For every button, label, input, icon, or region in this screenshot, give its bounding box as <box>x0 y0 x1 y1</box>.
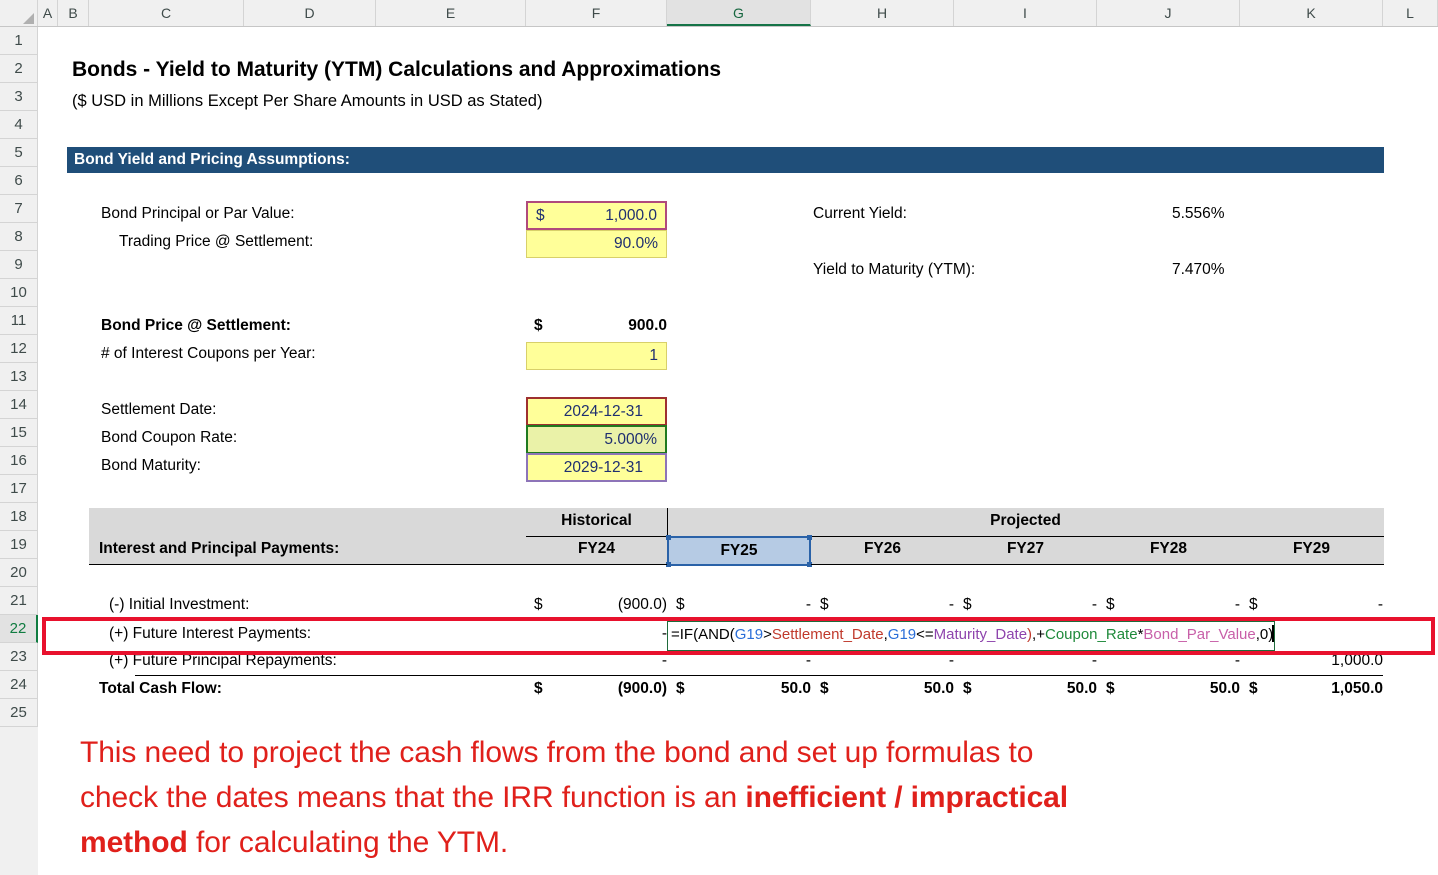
column-header-h[interactable]: H <box>811 0 954 26</box>
row-header-20[interactable]: 20 <box>0 559 38 587</box>
label-bond-par-value: Bond Principal or Par Value: <box>101 205 295 223</box>
r23-c4-value: - <box>1129 652 1240 670</box>
period-header-fy24: FY24 <box>526 540 667 558</box>
column-header-b[interactable]: B <box>58 0 89 26</box>
column-header-l[interactable]: L <box>1383 0 1438 26</box>
r23-c0-value: - <box>557 652 667 670</box>
settlement-date-value: 2024-12-31 <box>564 399 643 425</box>
page-subtitle: ($ USD in Millions Except Per Share Amou… <box>72 92 542 111</box>
row-header-25[interactable]: 25 <box>0 699 38 727</box>
row-header-8[interactable]: 8 <box>0 223 38 251</box>
bond-par-value: 1,000.0 <box>605 203 657 229</box>
input-bond-par-value[interactable]: $ 1,000.0 <box>526 201 667 230</box>
row-label-total-cash-flow: Total Cash Flow: <box>99 680 222 698</box>
label-settlement-date: Settlement Date: <box>101 401 216 419</box>
input-coupons-per-year[interactable]: 1 <box>526 342 667 370</box>
bond-price-currency: $ <box>534 317 543 335</box>
r24-c3-value: 50.0 <box>986 680 1097 698</box>
column-header-i[interactable]: I <box>954 0 1097 26</box>
ytm-value: 7.470% <box>1172 261 1225 279</box>
r24-c1-dollar: $ <box>676 680 685 698</box>
period-header-fy25-selected[interactable]: FY25 <box>667 536 811 566</box>
row-header-16[interactable]: 16 <box>0 447 38 475</box>
input-settlement-date[interactable]: 2024-12-31 <box>526 397 667 426</box>
formula-token: Bond_Par_Value <box>1143 626 1255 643</box>
period-header-fy29: FY29 <box>1240 540 1383 558</box>
row-header-11[interactable]: 11 <box>0 307 38 335</box>
r23-c1-value: - <box>699 652 811 670</box>
page-title: Bonds - Yield to Maturity (YTM) Calculat… <box>72 58 721 82</box>
row-header-24[interactable]: 24 <box>0 671 38 699</box>
select-all-corner[interactable] <box>0 0 38 26</box>
row-header-4[interactable]: 4 <box>0 111 38 139</box>
projected-header: Projected <box>667 512 1384 530</box>
period-header-fy26: FY26 <box>811 540 954 558</box>
label-ytm: Yield to Maturity (YTM): <box>813 261 975 279</box>
input-trading-price[interactable]: 90.0% <box>526 230 667 258</box>
r24-c2-dollar: $ <box>820 680 829 698</box>
period-header-fy28: FY28 <box>1097 540 1240 558</box>
section-banner: Bond Yield and Pricing Assumptions: <box>67 147 1384 173</box>
annotation-line-1: This need to project the cash flows from… <box>80 730 1410 775</box>
formula-edit-cell[interactable]: =IF(AND(G19>Settlement_Date,G19<=Maturit… <box>667 621 1275 651</box>
label-current-yield: Current Yield: <box>813 205 907 223</box>
formula-token: G19 <box>888 626 916 643</box>
row-header-6[interactable]: 6 <box>0 167 38 195</box>
r24-c4-dollar: $ <box>1106 680 1115 698</box>
formula-token: ,0) <box>1256 626 1274 643</box>
label-bond-maturity: Bond Maturity: <box>101 457 201 475</box>
formula-token: Settlement_Date <box>772 626 884 643</box>
r21-c0-dollar: $ <box>534 596 543 614</box>
r21-c5-value: - <box>1272 596 1383 614</box>
r24-c1-value: 50.0 <box>699 680 811 698</box>
r21-c4-value: - <box>1129 596 1240 614</box>
label-coupons-per-year: # of Interest Coupons per Year: <box>101 345 316 363</box>
r23-c3-value: - <box>986 652 1097 670</box>
formula-token: =IF(AND( <box>671 626 735 643</box>
r24-c5-value: 1,050.0 <box>1272 680 1383 698</box>
annotation-text: This need to project the cash flows from… <box>80 730 1410 865</box>
historical-underline <box>526 536 667 537</box>
r21-c4-dollar: $ <box>1106 596 1115 614</box>
r21-c1-value: - <box>699 596 811 614</box>
formula-token: Maturity_Date <box>934 626 1027 643</box>
period-row-underline-right <box>811 564 1384 565</box>
row-header-bar: 1234567891011121314151617181920212223242… <box>0 27 38 875</box>
trading-price-value: 90.0% <box>614 231 658 257</box>
period-header-fy27: FY27 <box>954 540 1097 558</box>
row-header-14[interactable]: 14 <box>0 391 38 419</box>
selection-handle-tl[interactable] <box>666 535 671 540</box>
column-header-g[interactable]: G <box>667 0 811 26</box>
coupons-per-year-value: 1 <box>649 343 658 369</box>
row-header-5[interactable]: 5 <box>0 139 38 167</box>
row-header-10[interactable]: 10 <box>0 279 38 307</box>
row-header-13[interactable]: 13 <box>0 363 38 391</box>
label-coupon-rate: Bond Coupon Rate: <box>101 429 237 447</box>
column-header-bar: ABCDEFGHIJKL <box>0 0 1438 27</box>
row-header-7[interactable]: 7 <box>0 195 38 223</box>
r21-c2-dollar: $ <box>820 596 829 614</box>
row-label-initial-investment: (-) Initial Investment: <box>109 596 249 614</box>
period-header-fy25-label: FY25 <box>669 542 809 560</box>
table-row-label-header: Interest and Principal Payments: <box>99 540 339 558</box>
row-header-3[interactable]: 3 <box>0 83 38 111</box>
column-header-k[interactable]: K <box>1240 0 1383 26</box>
row-header-21[interactable]: 21 <box>0 587 38 615</box>
column-header-j[interactable]: J <box>1097 0 1240 26</box>
r24-c0-value: (900.0) <box>557 680 667 698</box>
period-row-underline-left <box>89 564 667 565</box>
row-header-1[interactable]: 1 <box>0 27 38 55</box>
annotation-emphasis-1: inefficient / impractical <box>745 781 1068 814</box>
row-header-15[interactable]: 15 <box>0 419 38 447</box>
column-header-a[interactable]: A <box>38 0 58 26</box>
r24-c2-value: 50.0 <box>843 680 954 698</box>
label-trading-price: Trading Price @ Settlement: <box>119 233 313 251</box>
formula-token: G19 <box>735 626 763 643</box>
bond-maturity-value: 2029-12-31 <box>564 455 643 481</box>
r23-c5-value: 1,000.0 <box>1272 652 1383 670</box>
row-header-9[interactable]: 9 <box>0 251 38 279</box>
text-caret <box>1272 625 1274 642</box>
r24-c5-dollar: $ <box>1249 680 1258 698</box>
r21-c0-value: (900.0) <box>557 596 667 614</box>
r21-c2-value: - <box>843 596 954 614</box>
row-header-23[interactable]: 23 <box>0 643 38 671</box>
column-header-e[interactable]: E <box>376 0 526 26</box>
annotation-line-3-text: for calculating the YTM. <box>188 826 508 859</box>
r21-c3-value: - <box>986 596 1097 614</box>
row-label-future-principal: (+) Future Principal Repayments: <box>109 652 337 670</box>
r24-c0-dollar: $ <box>534 680 543 698</box>
annotation-line-1-text: This need to project the cash flows from… <box>80 736 1033 769</box>
column-header-d[interactable]: D <box>244 0 376 26</box>
r23-c2-value: - <box>843 652 954 670</box>
header-divider <box>667 508 668 536</box>
current-yield-value: 5.556% <box>1172 205 1225 223</box>
column-header-f[interactable]: F <box>526 0 667 26</box>
row-header-18[interactable]: 18 <box>0 503 38 531</box>
bond-price-value: 900.0 <box>557 317 667 335</box>
r21-c1-dollar: $ <box>676 596 685 614</box>
r24-c3-dollar: $ <box>963 680 972 698</box>
r21-c5-dollar: $ <box>1249 596 1258 614</box>
currency-symbol: $ <box>536 203 545 229</box>
row-header-12[interactable]: 12 <box>0 335 38 363</box>
annotation-line-2: check the dates means that the IRR funct… <box>80 775 1410 820</box>
annotation-line-2-text: check the dates means that the IRR funct… <box>80 781 745 814</box>
formula-token: ,+ <box>1032 626 1045 643</box>
label-bond-price: Bond Price @ Settlement: <box>101 317 291 335</box>
row-label-future-interest: (+) Future Interest Payments: <box>109 625 311 643</box>
row-header-19[interactable]: 19 <box>0 531 38 559</box>
input-coupon-rate[interactable]: 5.000% <box>526 425 667 454</box>
r21-c3-dollar: $ <box>963 596 972 614</box>
annotation-line-3: method for calculating the YTM. <box>80 820 1410 865</box>
column-header-c[interactable]: C <box>89 0 244 26</box>
formula-token: <= <box>916 626 934 643</box>
row-header-2[interactable]: 2 <box>0 55 38 83</box>
historical-header: Historical <box>526 512 667 530</box>
coupon-rate-value: 5.000% <box>604 427 657 453</box>
annotation-emphasis-2: method <box>80 826 188 859</box>
formula-token: Coupon_Rate <box>1045 626 1138 643</box>
total-row-topline <box>135 675 1383 676</box>
r22-c0-value: - <box>557 625 667 643</box>
formula-token: > <box>763 626 772 643</box>
input-bond-maturity[interactable]: 2029-12-31 <box>526 453 667 482</box>
r24-c4-value: 50.0 <box>1129 680 1240 698</box>
row-header-17[interactable]: 17 <box>0 475 38 503</box>
row-header-22[interactable]: 22 <box>0 615 38 643</box>
